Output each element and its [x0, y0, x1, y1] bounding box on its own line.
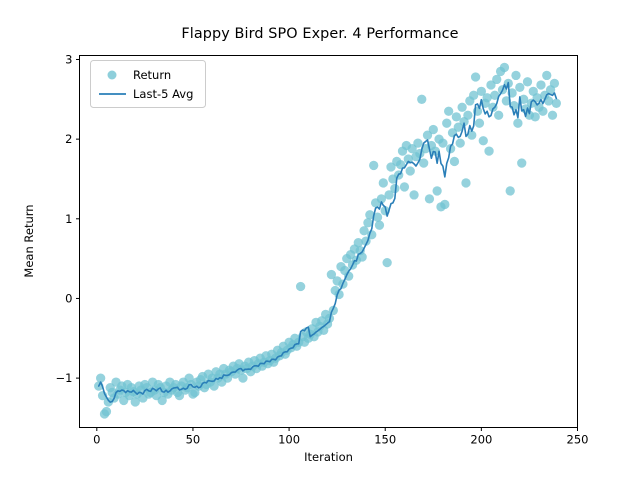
y-tick-label: −1	[56, 371, 73, 385]
plot-canvas: 050100150200250 −10123 Iteration Mean Re…	[0, 0, 640, 480]
y-axis-label: Mean Return	[22, 204, 36, 277]
scatter-point	[552, 99, 561, 108]
x-tick-label: 50	[186, 433, 201, 447]
scatter-point	[484, 146, 493, 155]
y-tick-label: 0	[65, 291, 72, 305]
scatter-point	[517, 158, 526, 167]
scatter-point	[542, 71, 551, 80]
scatter-point	[523, 77, 532, 86]
scatter-point	[475, 119, 484, 128]
x-tick-label: 250	[567, 433, 589, 447]
scatter-point	[429, 125, 438, 134]
scatter-point	[548, 111, 557, 120]
scatter-point	[379, 178, 388, 187]
scatter-point	[463, 111, 472, 120]
scatter-point	[417, 95, 426, 104]
x-axis-label: Iteration	[304, 450, 353, 464]
y-axis-ticks: −10123	[56, 52, 80, 385]
legend-label-last5avg: Last-5 Avg	[133, 87, 193, 101]
scatter-point	[413, 138, 422, 147]
scatter-point	[550, 79, 559, 88]
scatter-point	[400, 182, 409, 191]
scatter-point	[536, 80, 545, 89]
x-tick-label: 200	[470, 433, 492, 447]
scatter-point	[515, 83, 524, 92]
scatter-point	[296, 282, 305, 291]
scatter-point	[479, 136, 488, 145]
matplotlib-figure: Flappy Bird SPO Exper. 4 Performance 050…	[0, 0, 640, 480]
legend-label-return: Return	[133, 68, 171, 82]
y-tick-label: 3	[65, 52, 72, 66]
y-tick-label: 2	[65, 132, 72, 146]
scatter-point	[492, 75, 501, 84]
x-tick-label: 0	[93, 433, 100, 447]
scatter-point	[450, 157, 459, 166]
scatter-point	[471, 72, 480, 81]
scatter-point	[494, 111, 503, 120]
chart-legend[interactable]: Return Last-5 Avg	[91, 61, 206, 108]
scatter-point	[375, 221, 384, 230]
scatter-point	[531, 112, 540, 121]
scatter-point	[442, 119, 451, 128]
scatter-point	[457, 103, 466, 112]
y-tick-label: 1	[65, 212, 72, 226]
x-tick-label: 150	[374, 433, 396, 447]
legend-dot-icon	[108, 71, 117, 80]
scatter-point	[409, 190, 418, 199]
scatter-point	[406, 166, 415, 175]
x-tick-label: 100	[278, 433, 300, 447]
scatter-point	[382, 258, 391, 267]
scatter-point	[354, 238, 363, 247]
scatter-point	[461, 178, 470, 187]
scatter-point	[444, 107, 453, 116]
scatter-point	[432, 186, 441, 195]
scatter-point	[440, 200, 449, 209]
scatter-point	[102, 407, 111, 416]
scatter-point	[238, 373, 247, 382]
scatter-point	[452, 112, 461, 121]
scatter-point	[438, 138, 447, 147]
scatter-point	[513, 119, 522, 128]
axes-frame	[80, 56, 578, 428]
scatter-point	[538, 107, 547, 116]
scatter-point	[506, 186, 515, 195]
scatter-point	[363, 218, 372, 227]
x-axis-ticks: 050100150200250	[93, 428, 588, 447]
scatter-point	[500, 63, 509, 72]
scatter-point	[425, 194, 434, 203]
scatter-point	[511, 71, 520, 80]
scatter-point	[369, 161, 378, 170]
scatter-point	[456, 138, 465, 147]
